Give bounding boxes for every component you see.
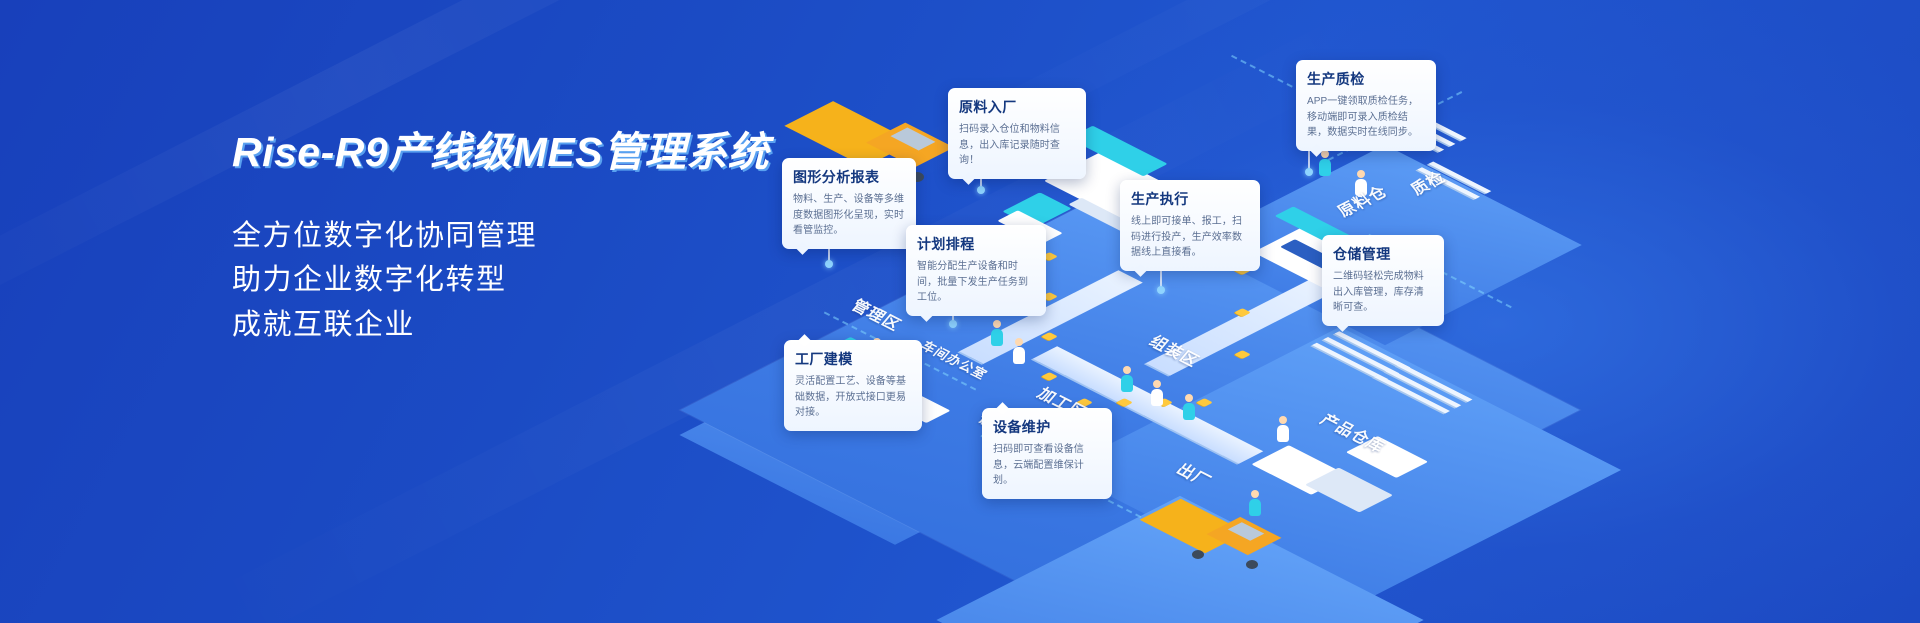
callout-card-chart-analysis[interactable]: 图形分析报表 物料、生产、设备等多维度数据图形化呈现，实时看管监控。 <box>782 158 916 249</box>
callout-card-body: 二维码轻松完成物料出入库管理，库存清晰可查。 <box>1333 269 1433 316</box>
callout-card-body: 线上即可接单、报工，扫码进行投产，生产效率数据线上直接看。 <box>1131 214 1249 261</box>
callout-card-planning-scheduling[interactable]: 计划排程 智能分配生产设备和时间，批量下发生产任务到工位。 <box>906 225 1046 316</box>
mes-hero-banner: Rise-R9产线级MES管理系统 全方位数字化协同管理 助力企业数字化转型 成… <box>0 0 1920 623</box>
callout-card-body: 智能分配生产设备和时间，批量下发生产任务到工位。 <box>917 259 1035 306</box>
callout-card-material-inbound[interactable]: 原料入厂 扫码录入仓位和物料信息，出入库记录随时查询！ <box>948 88 1086 179</box>
callout-card-title: 设备维护 <box>993 417 1101 437</box>
worker-figure <box>1248 490 1262 516</box>
callout-card-title: 生产执行 <box>1131 189 1249 209</box>
callout-card-warehouse-management[interactable]: 仓储管理 二维码轻松完成物料出入库管理，库存清晰可查。 <box>1322 235 1444 326</box>
callout-card-title: 工厂建模 <box>795 349 911 369</box>
worker-figure <box>990 320 1004 346</box>
worker-figure <box>1012 338 1026 364</box>
delivery-truck-outbound <box>1158 496 1288 572</box>
callout-card-title: 图形分析报表 <box>793 167 905 187</box>
worker-figure <box>1120 366 1134 392</box>
callout-card-equipment-maintenance[interactable]: 设备维护 扫码即可查看设备信息，云端配置维保计划。 <box>982 408 1112 499</box>
callout-card-title: 仓储管理 <box>1333 244 1433 264</box>
callout-card-title: 计划排程 <box>917 234 1035 254</box>
callout-card-body: APP一键领取质检任务，移动端即可录入质检结果，数据实时在线同步。 <box>1307 94 1425 141</box>
worker-figure <box>1150 380 1164 406</box>
callout-card-production-execution[interactable]: 生产执行 线上即可接单、报工，扫码进行投产，生产效率数据线上直接看。 <box>1120 180 1260 271</box>
callout-card-body: 扫码录入仓位和物料信息，出入库记录随时查询！ <box>959 122 1075 169</box>
callout-card-body: 物料、生产、设备等多维度数据图形化呈现，实时看管监控。 <box>793 192 905 239</box>
callout-card-quality-inspection[interactable]: 生产质检 APP一键领取质检任务，移动端即可录入质检结果，数据实时在线同步。 <box>1296 60 1436 151</box>
callout-card-body: 灵活配置工艺、设备等基础数据，开放式接口更易对接。 <box>795 374 911 421</box>
worker-figure <box>1182 394 1196 420</box>
callout-card-title: 原料入厂 <box>959 97 1075 117</box>
callout-card-factory-modeling[interactable]: 工厂建模 灵活配置工艺、设备等基础数据，开放式接口更易对接。 <box>784 340 922 431</box>
worker-figure <box>1276 416 1290 442</box>
callout-card-title: 生产质检 <box>1307 69 1425 89</box>
callout-card-body: 扫码即可查看设备信息，云端配置维保计划。 <box>993 442 1101 489</box>
worker-figure <box>1318 150 1332 176</box>
